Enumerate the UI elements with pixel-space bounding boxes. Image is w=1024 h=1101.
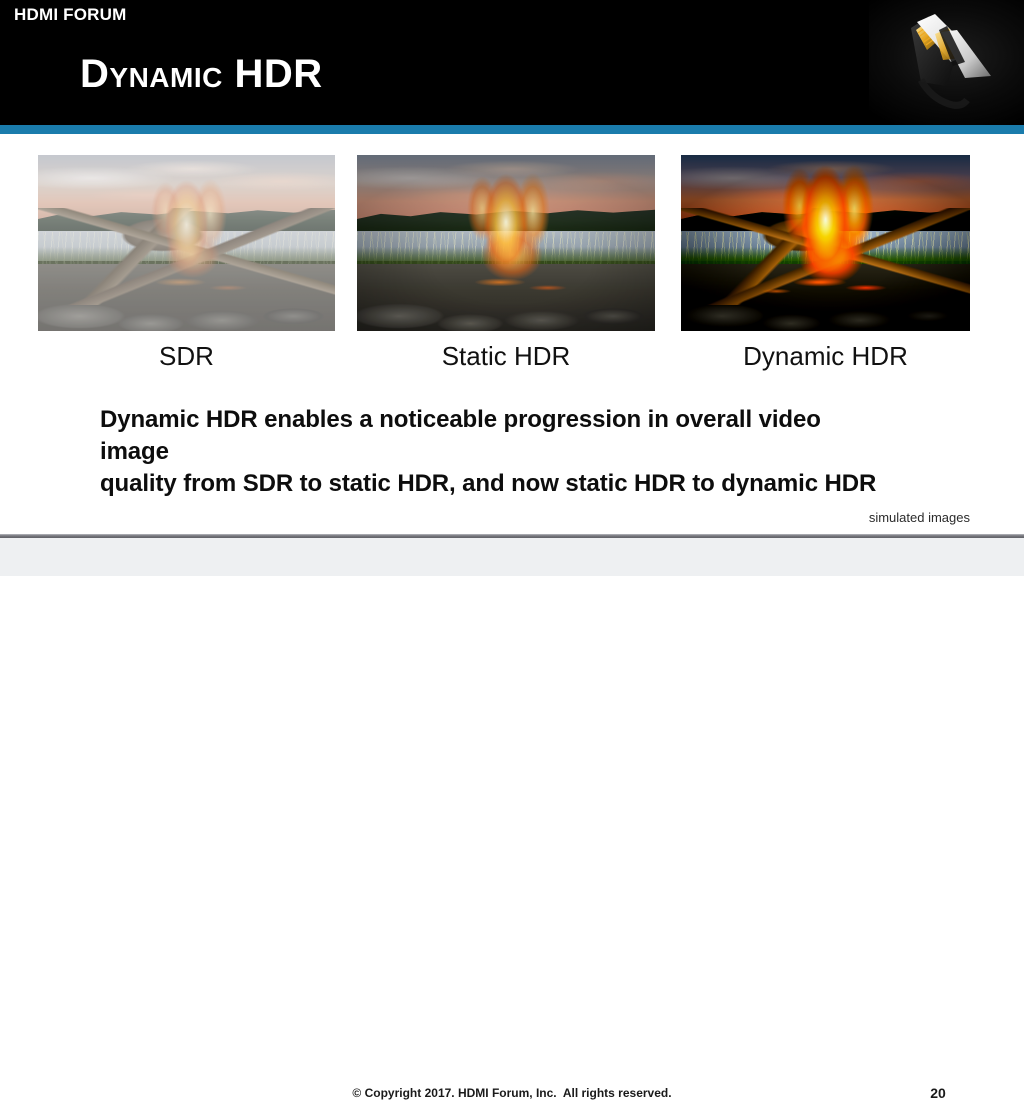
page-title: Dynamic HDR [80, 54, 323, 94]
body-line-1: Dynamic HDR enables a noticeable progres… [100, 404, 890, 468]
body-paragraph: Dynamic HDR enables a noticeable progres… [100, 404, 890, 500]
simulated-images-note: simulated images [869, 510, 970, 525]
brand-label: HDMI FORUM [14, 5, 126, 25]
caption-sdr: SDR [38, 341, 335, 372]
copyright-text: © Copyright 2017. HDMI Forum, Inc. All r… [0, 1086, 1024, 1100]
body-line-2: quality from SDR to static HDR, and now … [100, 468, 890, 500]
comparison-image-sdr [38, 155, 335, 331]
page-number: 20 [916, 1085, 960, 1101]
caption-dynamic-hdr: Dynamic HDR [681, 341, 970, 372]
slide-footer: © Copyright 2017. HDMI Forum, Inc. All r… [0, 538, 1024, 576]
accent-bar [0, 125, 1024, 134]
hdmi-connector-logo [869, 0, 1024, 125]
slide-header: HDMI FORUM Dynamic HDR [0, 0, 1024, 125]
hdmi-connector-icon [869, 0, 1024, 125]
comparison-image-static-hdr [357, 155, 655, 331]
comparison-image-dynamic-hdr [681, 155, 970, 331]
caption-static-hdr: Static HDR [357, 341, 655, 372]
